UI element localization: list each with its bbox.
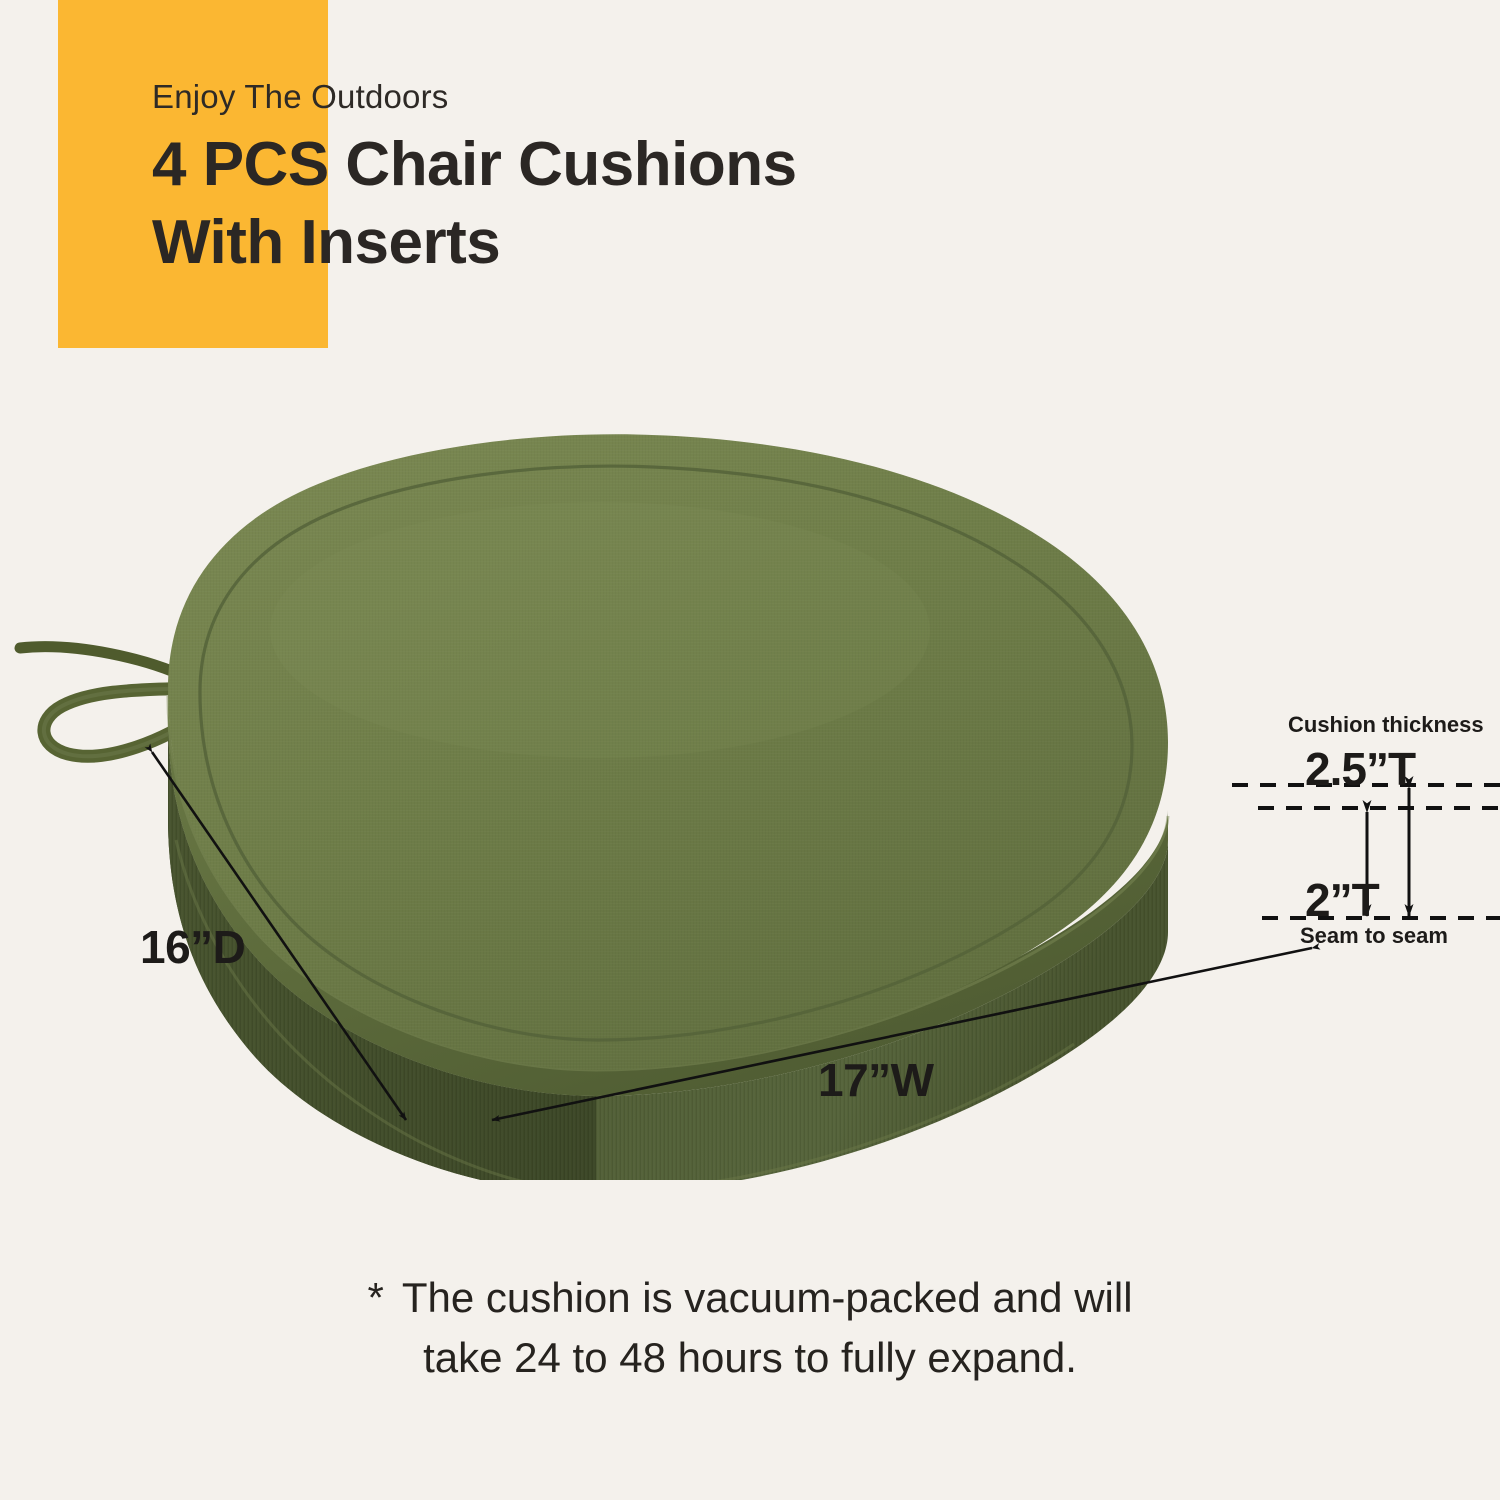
eyebrow-text: Enjoy The Outdoors (152, 78, 449, 116)
width-label: 17”W (818, 1053, 934, 1107)
seam-to-seam-caption: Seam to seam (1300, 923, 1448, 949)
asterisk-marker: * (367, 1274, 401, 1321)
cushion-thickness-value: 2.5”T (1305, 742, 1415, 796)
seam-to-seam-value: 2”T (1305, 873, 1379, 927)
footnote-text-1: The cushion is vacuum-packed and will (402, 1274, 1133, 1321)
title-line-1: 4 PCS Chair Cushions (152, 126, 1052, 204)
infographic-canvas: Enjoy The Outdoors 4 PCS Chair Cushions … (0, 0, 1500, 1500)
cushion-thickness-caption: Cushion thickness (1288, 712, 1484, 738)
footnote-line-1: *The cushion is vacuum-packed and will (0, 1268, 1500, 1328)
depth-label: 16”D (140, 920, 245, 974)
page-title: 4 PCS Chair Cushions With Inserts (152, 126, 1052, 281)
footnote: *The cushion is vacuum-packed and will t… (0, 1268, 1500, 1387)
footnote-line-2: take 24 to 48 hours to fully expand. (0, 1328, 1500, 1388)
product-illustration (0, 420, 1500, 1180)
title-line-2: With Inserts (152, 204, 1052, 282)
